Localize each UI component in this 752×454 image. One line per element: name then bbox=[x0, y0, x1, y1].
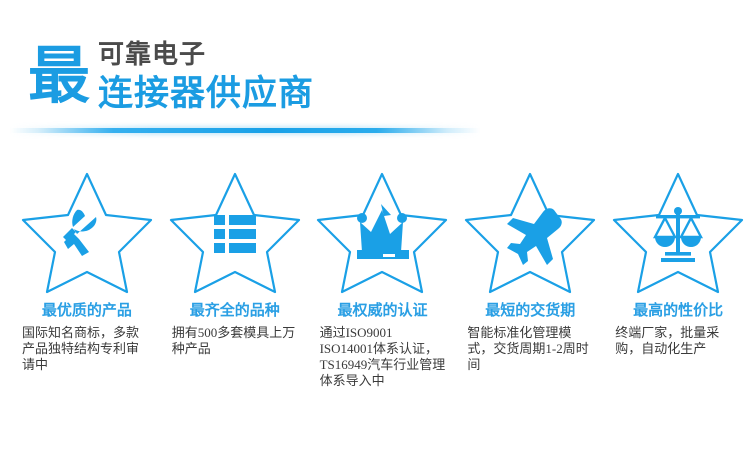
balance-scale-icon bbox=[655, 207, 701, 262]
feature-description: 终端厂家，批量采购，自动化生产 bbox=[615, 325, 741, 357]
feature-title: 最权威的认证 bbox=[337, 302, 427, 320]
star-outline-frame bbox=[611, 168, 745, 296]
list-grid-icon bbox=[214, 215, 256, 253]
feature-title: 最优质的产品 bbox=[42, 302, 132, 320]
feature-title: 最齐全的品种 bbox=[190, 302, 280, 320]
headline-line-1: 可靠电子 bbox=[98, 39, 314, 69]
star-outline-frame bbox=[20, 168, 154, 296]
feature-item: 最权威的认证 通过ISO9001 ISO14001体系认证，TS16949汽车行… bbox=[309, 168, 457, 389]
star-outline-path bbox=[23, 174, 151, 292]
star-outline-frame bbox=[168, 168, 302, 296]
headline-line-2: 连接器供应商 bbox=[98, 73, 314, 115]
header-divider-line bbox=[10, 128, 480, 133]
star-outline-frame bbox=[463, 168, 597, 296]
headline-block: 最 可靠电子 连接器供应商 bbox=[28, 33, 314, 115]
satellite-dish-icon bbox=[63, 210, 96, 256]
feature-item: 最齐全的品种 拥有500多套模具上万种产品 bbox=[161, 168, 309, 389]
feature-description: 国际知名商标，多款产品独特结构专利审请中 bbox=[22, 325, 148, 373]
feature-item: 最优质的产品 国际知名商标，多款产品独特结构专利审请中 bbox=[13, 168, 161, 389]
feature-description: 通过ISO9001 ISO14001体系认证，TS16949汽车行业管理体系导入… bbox=[320, 325, 446, 389]
feature-title: 最高的性价比 bbox=[633, 302, 723, 320]
feature-description: 拥有500多套模具上万种产品 bbox=[172, 325, 298, 357]
header-banner: 最 可靠电子 连接器供应商 bbox=[0, 0, 752, 150]
headline-big-character: 最 bbox=[28, 39, 90, 115]
feature-title: 最短的交货期 bbox=[485, 302, 575, 320]
feature-item: 最短的交货期 智能标准化管理模式，交货周期1-2周时间 bbox=[456, 168, 604, 389]
feature-item: 最高的性价比 终端厂家，批量采购，自动化生产 bbox=[604, 168, 752, 389]
airplane-icon bbox=[507, 208, 562, 265]
star-outline-frame bbox=[315, 168, 449, 296]
feature-description: 智能标准化管理模式，交货周期1-2周时间 bbox=[467, 325, 593, 373]
headline-text-lines: 可靠电子 连接器供应商 bbox=[98, 39, 314, 115]
feature-list: 最优质的产品 国际知名商标，多款产品独特结构专利审请中 最齐全的品种 拥有500… bbox=[0, 168, 752, 389]
